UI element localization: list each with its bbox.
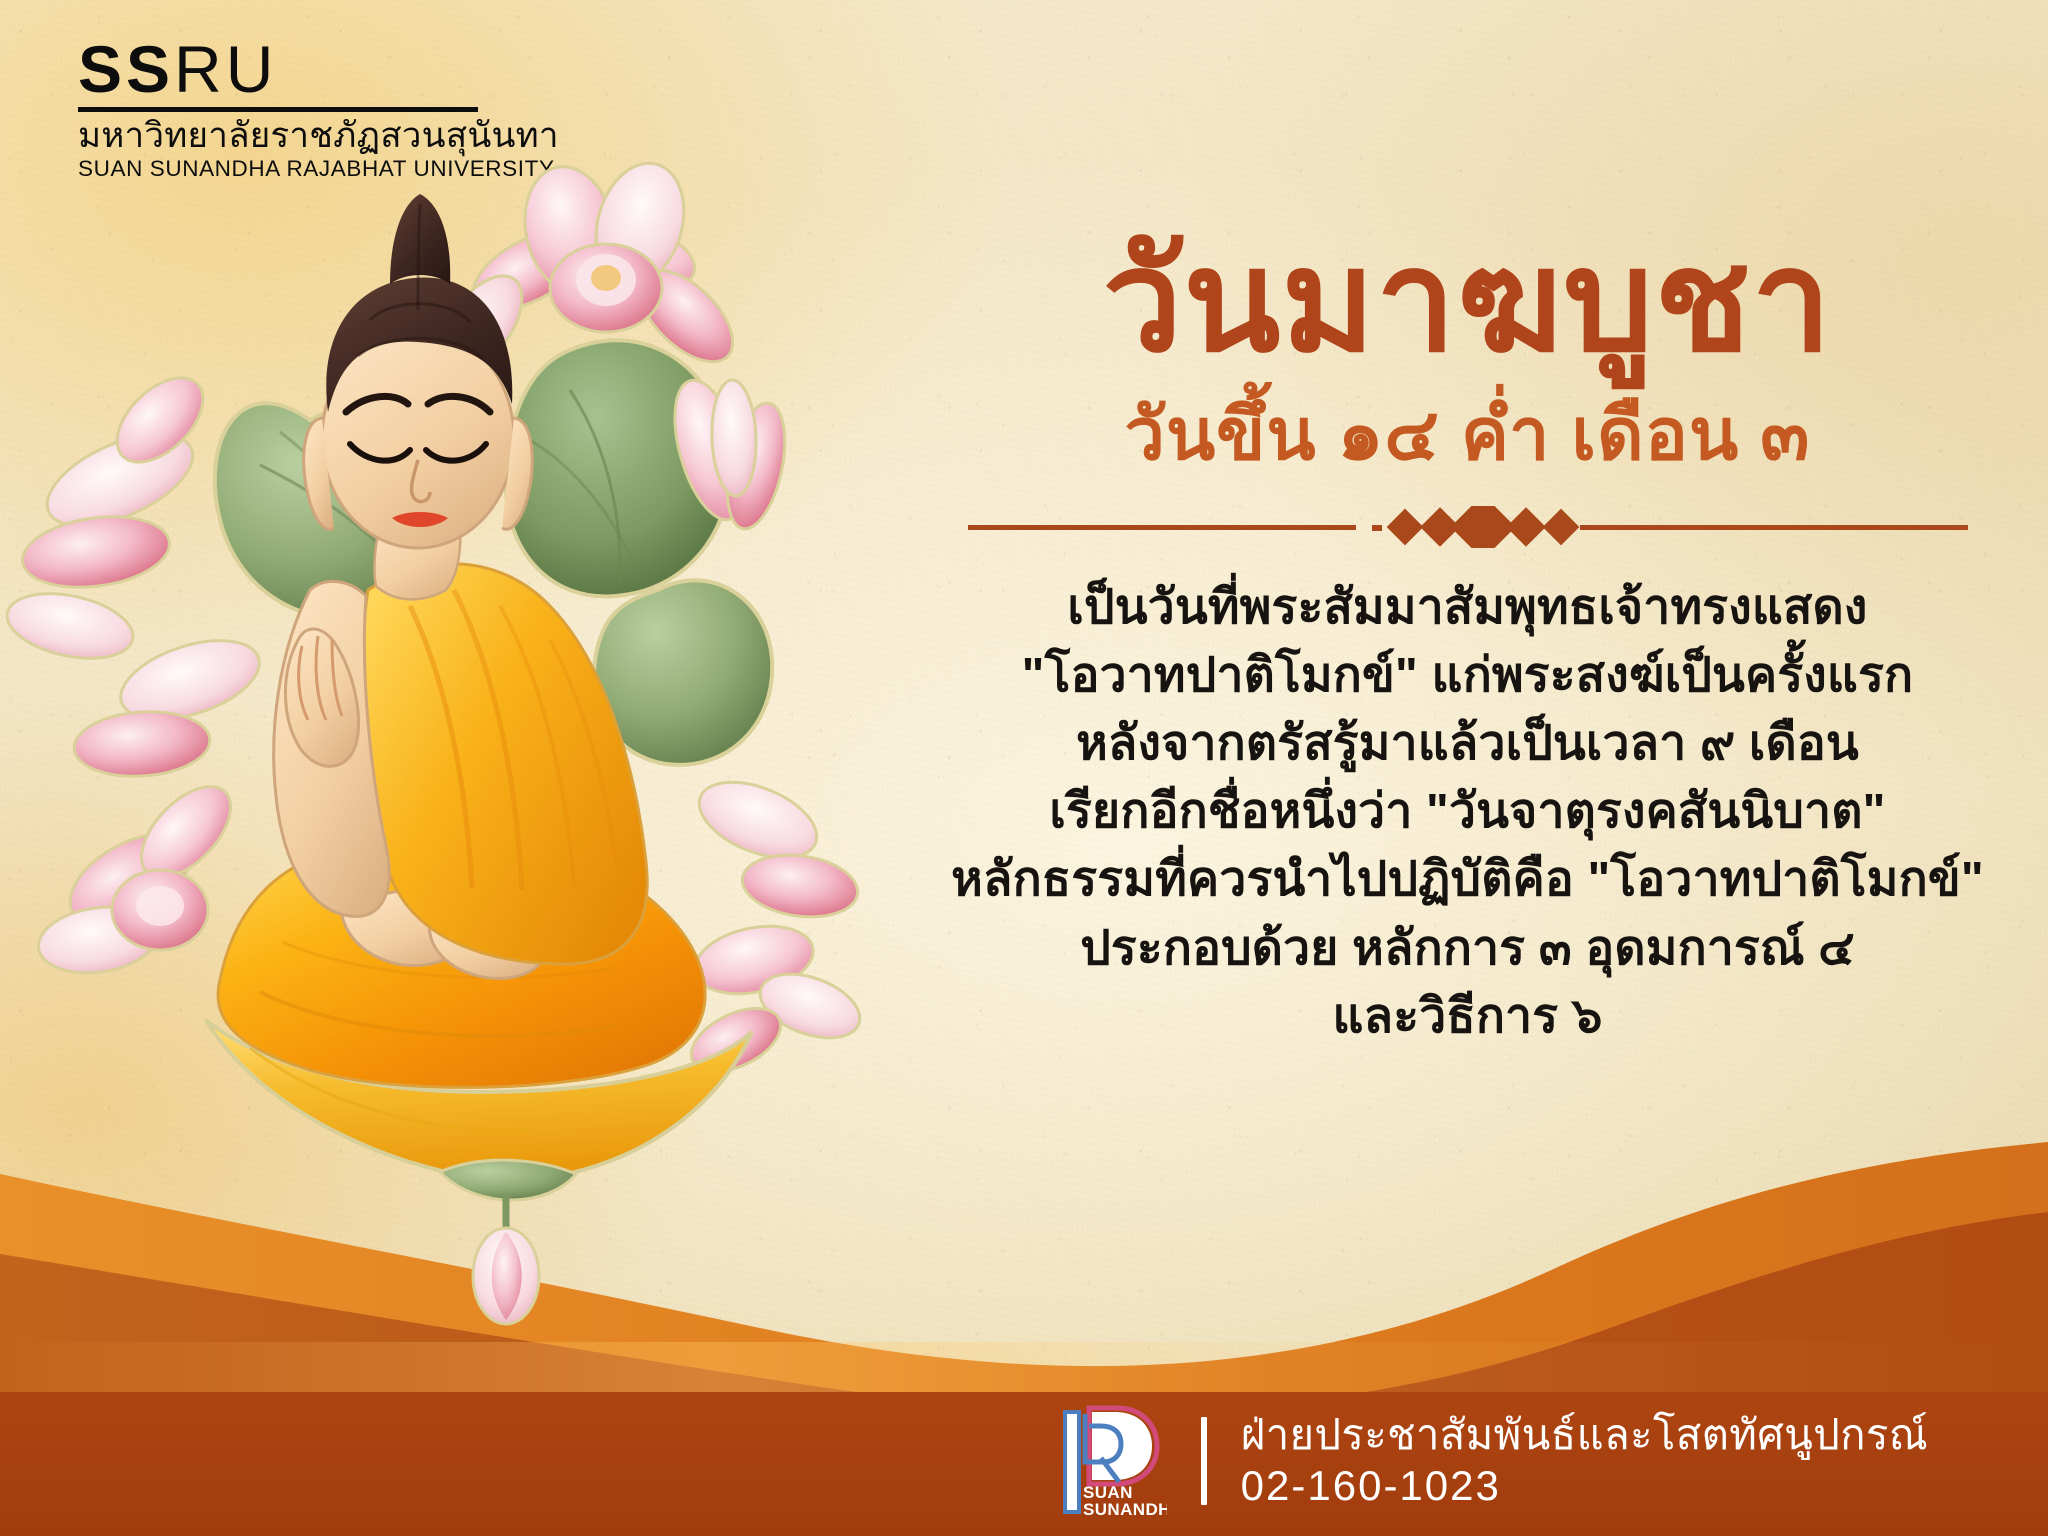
page-subtitle: วันขึ้น ๑๔ ค่ำ เดือน ๓ [935,393,2000,478]
content-column: วันมาฆบูชา วันขึ้น ๑๔ ค่ำ เดือน ๓ เป็นวั… [935,230,2000,1051]
body-line: หลักธรรมที่ควรนำไปปฏิบัติคือ "โอวาทปาติโ… [935,846,2000,914]
lotus-flower-right-lower [681,767,868,1084]
body-line: ประกอบด้วย หลักการ ๓ อุดมการณ์ ๔ [935,915,2000,983]
body-paragraph: เป็นวันที่พระสัมมาสัมพุทธเจ้าทรงแสดง "โอ… [935,574,2000,1051]
footer-bar: SUAN SUNANDHA ฝ่ายประชาสัมพันธ์และโสตทัศ… [0,1386,2048,1536]
svg-text:SUNANDHA: SUNANDHA [1083,1500,1167,1519]
ssru-acronym-normal: RU [174,32,277,106]
buddha-upper-robe [362,564,647,964]
lotus-flower-left-lower [34,771,246,980]
ssru-acronym: SSRU [78,38,478,101]
ssru-acronym-bold: SS [78,32,174,106]
body-line: และวิธีการ ๖ [935,983,2000,1051]
footer-department: ฝ่ายประชาสัมพันธ์และโสตทัศนูปกรณ์ [1241,1410,1928,1460]
ornamental-divider [968,506,1968,548]
footer-contact: ฝ่ายประชาสัมพันธ์และโสตทัศนูปกรณ์ 02-160… [1241,1410,1928,1513]
page-title: วันมาฆบูชา [935,230,2000,375]
body-line: เป็นวันที่พระสัมมาสัมพุทธเจ้าทรงแสดง [935,574,2000,642]
lotus-bud-hanging [440,1160,576,1324]
buddha-lotus-illustration [10,120,930,1400]
footer-divider [1201,1417,1207,1505]
suan-sunandha-monogram-logo: SUAN SUNANDHA [1045,1402,1167,1520]
lotus-flower-left-upper [1,362,218,668]
body-line: เรียกอีกชื่อหนึ่งว่า "วันจาตุรงคสันนิบาต… [935,778,2000,846]
poster-canvas: SSRU มหาวิทยาลัยราชภัฏสวนสุนันทา SUAN SU… [0,0,2048,1536]
footer-phone: 02-160-1023 [1241,1460,1928,1513]
body-line: "โอวาทปาติโมกข์" แก่พระสงฆ์เป็นครั้งแรก [935,642,2000,710]
body-line: หลังจากตรัสรู้มาแล้วเป็นเวลา ๙ เดือน [935,710,2000,778]
ssru-logo-rule [78,107,478,112]
